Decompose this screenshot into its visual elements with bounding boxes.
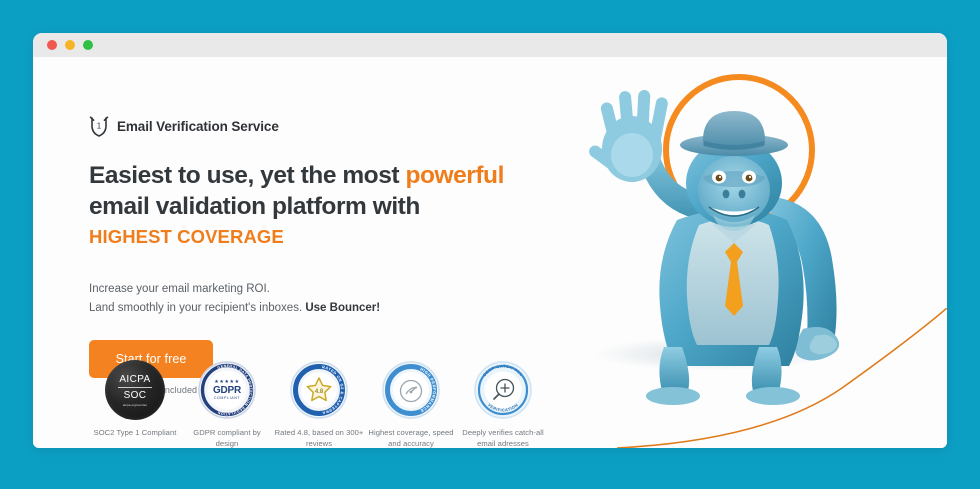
headline-highlight: powerful bbox=[405, 162, 503, 189]
badge-aicpa-soc[interactable]: AICPA SOC aicpa.org/soc4so SOC2 Type 1 C… bbox=[89, 360, 181, 448]
speedometer-seal-icon: HIGH PERFORMANCE bbox=[381, 360, 441, 420]
trust-badges: AICPA SOC aicpa.org/soc4so SOC2 Type 1 C… bbox=[89, 360, 589, 448]
subcopy-line-2: Land smoothly in your recipient's inboxe… bbox=[89, 302, 305, 314]
badge-caption: Highest coverage, speed and accuracy bbox=[365, 428, 457, 448]
page-viewport: 1 Email Verification Service Easiest to … bbox=[33, 57, 947, 448]
performance-seal-ring: HIGH PERFORMANCE bbox=[381, 360, 441, 420]
aicpa-seal-bottom: SOC bbox=[124, 390, 147, 401]
badge-caption: SOC2 Type 1 Compliant bbox=[89, 428, 181, 439]
headline-part-1: Easiest to use, yet the most bbox=[89, 162, 405, 189]
brand-name: Email Verification Service bbox=[117, 119, 279, 134]
badge-g2-capterra[interactable]: RATED ON G2 & CAPTERRA 4.8 Rated 4.8, ba… bbox=[273, 360, 365, 448]
badge-caption: GDPR compliant by design bbox=[181, 428, 273, 448]
badge-high-performance[interactable]: HIGH PERFORMANCE Highest coverage, speed… bbox=[365, 360, 457, 448]
aicpa-seal-top: AICPA bbox=[119, 374, 150, 385]
badge-deep-catch-all[interactable]: DEEP CATCH-ALL VERIFICATION Deeply verif bbox=[457, 360, 549, 448]
maximize-window-button[interactable] bbox=[83, 40, 93, 50]
brand-lockup[interactable]: 1 Email Verification Service bbox=[89, 115, 589, 137]
gdpr-seal-main: GDPR bbox=[213, 385, 241, 396]
close-window-button[interactable] bbox=[47, 40, 57, 50]
blue-gorilla-mascot-icon bbox=[527, 57, 947, 448]
aicpa-seal-divider bbox=[118, 387, 152, 388]
catchall-seal-ring: DEEP CATCH-ALL VERIFICATION bbox=[473, 360, 533, 420]
headline-line-3: HIGHEST COVERAGE bbox=[89, 225, 519, 249]
gdpr-seal-icon: GENERAL DATA PROTECTION REGULATION ★★★★★… bbox=[197, 360, 257, 420]
minimize-window-button[interactable] bbox=[65, 40, 75, 50]
hero-subcopy: Increase your email marketing ROI. Land … bbox=[89, 280, 589, 317]
svg-text:1: 1 bbox=[97, 122, 102, 131]
subcopy-strong: Use Bouncer! bbox=[305, 302, 380, 314]
aicpa-seal-tiny: aicpa.org/soc4so bbox=[123, 403, 147, 407]
screenshot-root: 1 Email Verification Service Easiest to … bbox=[0, 0, 980, 489]
shield-one-icon: 1 bbox=[89, 115, 109, 137]
g2-score: 4.8 bbox=[315, 389, 323, 395]
aicpa-soc-seal-icon: AICPA SOC aicpa.org/soc4so bbox=[105, 360, 165, 420]
badge-caption: Rated 4.8, based on 300+ reviews bbox=[273, 428, 365, 448]
hero-content: 1 Email Verification Service Easiest to … bbox=[89, 57, 589, 448]
page-title: Easiest to use, yet the most powerful em… bbox=[89, 160, 519, 248]
badge-caption: Deeply verifies catch-all email adresses bbox=[457, 428, 549, 448]
gdpr-seal-sub: COMPLIANT bbox=[214, 396, 240, 400]
headline-part-2: email validation platform with bbox=[89, 193, 420, 220]
magnifier-plus-seal-icon: DEEP CATCH-ALL VERIFICATION bbox=[473, 360, 533, 420]
hero-illustration bbox=[527, 57, 947, 448]
browser-title-bar bbox=[33, 33, 947, 57]
badge-gdpr[interactable]: GENERAL DATA PROTECTION REGULATION ★★★★★… bbox=[181, 360, 273, 448]
browser-window: 1 Email Verification Service Easiest to … bbox=[33, 33, 947, 448]
subcopy-line-1: Increase your email marketing ROI. bbox=[89, 283, 270, 295]
star-rating-seal-icon: RATED ON G2 & CAPTERRA 4.8 bbox=[289, 360, 349, 420]
